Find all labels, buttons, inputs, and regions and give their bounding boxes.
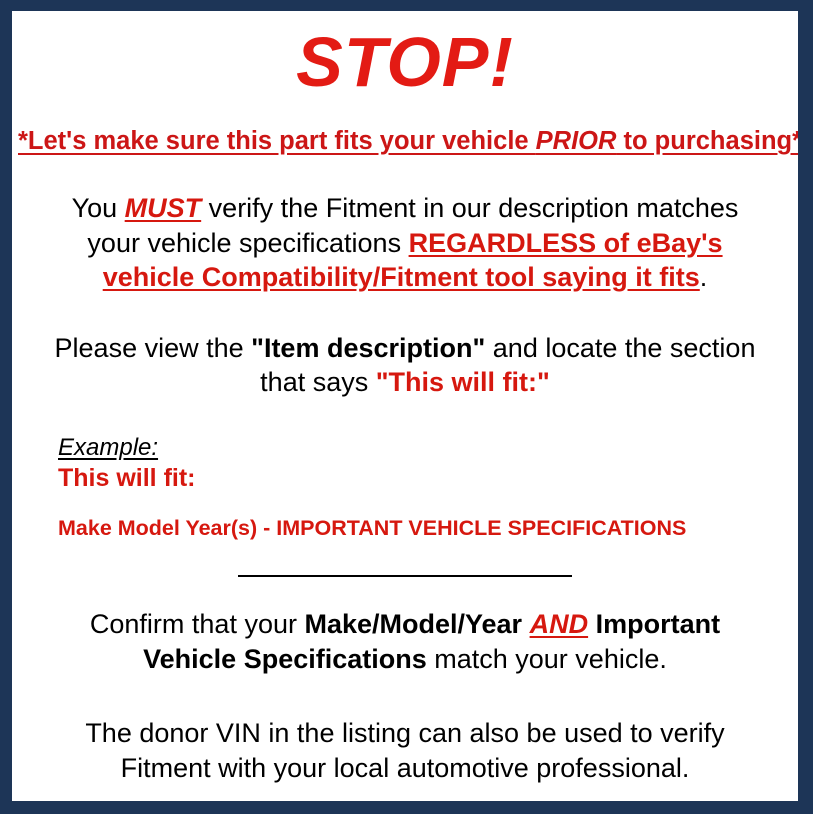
paragraph-confirm-match: Confirm that your Make/Model/Year AND Im… <box>46 607 764 676</box>
subtitle-banner: *Let's make sure this part fits your veh… <box>18 127 792 155</box>
example-will-fit-heading: This will fit: <box>58 463 798 494</box>
p3-seg-5 <box>588 609 596 639</box>
p1-emphasis-must: MUST <box>125 193 202 223</box>
p3-emphasis-and: AND <box>530 609 589 639</box>
paragraph-item-description: Please view the "Item description" and l… <box>46 331 764 400</box>
p3-seg-3 <box>522 609 530 639</box>
subtitle-text-after: to purchasing* <box>616 127 802 155</box>
subtitle-emphasis-prior: PRIOR <box>536 127 617 155</box>
example-label: Example: <box>58 434 798 462</box>
p1-seg-1: You <box>72 193 125 223</box>
horizontal-rule-icon <box>238 575 572 577</box>
page-title: STOP! <box>12 27 798 97</box>
p2-emphasis-item-description: "Item description" <box>251 333 485 363</box>
subtitle-text-before: *Let's make sure this part fits your veh… <box>18 127 536 155</box>
poster-inner: STOP! *Let's make sure this part fits yo… <box>12 27 798 814</box>
p3-seg-7: match your vehicle. <box>427 644 667 674</box>
example-spec-line: Make Model Year(s) - IMPORTANT VEHICLE S… <box>58 516 798 542</box>
p3-emphasis-make-model-year: Make/Model/Year <box>304 609 522 639</box>
paragraph-donor-vin: The donor VIN in the listing can also be… <box>46 716 764 785</box>
p2-emphasis-this-will-fit: "This will fit:" <box>376 367 550 397</box>
divider-wrap <box>12 567 798 585</box>
p1-seg-5: . <box>700 262 708 292</box>
paragraph-verify-fitment: You MUST verify the Fitment in our descr… <box>46 191 764 295</box>
example-block: Example: This will fit: Make Model Year(… <box>12 434 798 542</box>
p2-seg-1: Please view the <box>55 333 252 363</box>
p3-seg-1: Confirm that your <box>90 609 305 639</box>
fitment-notice-poster: STOP! *Let's make sure this part fits yo… <box>0 0 813 814</box>
